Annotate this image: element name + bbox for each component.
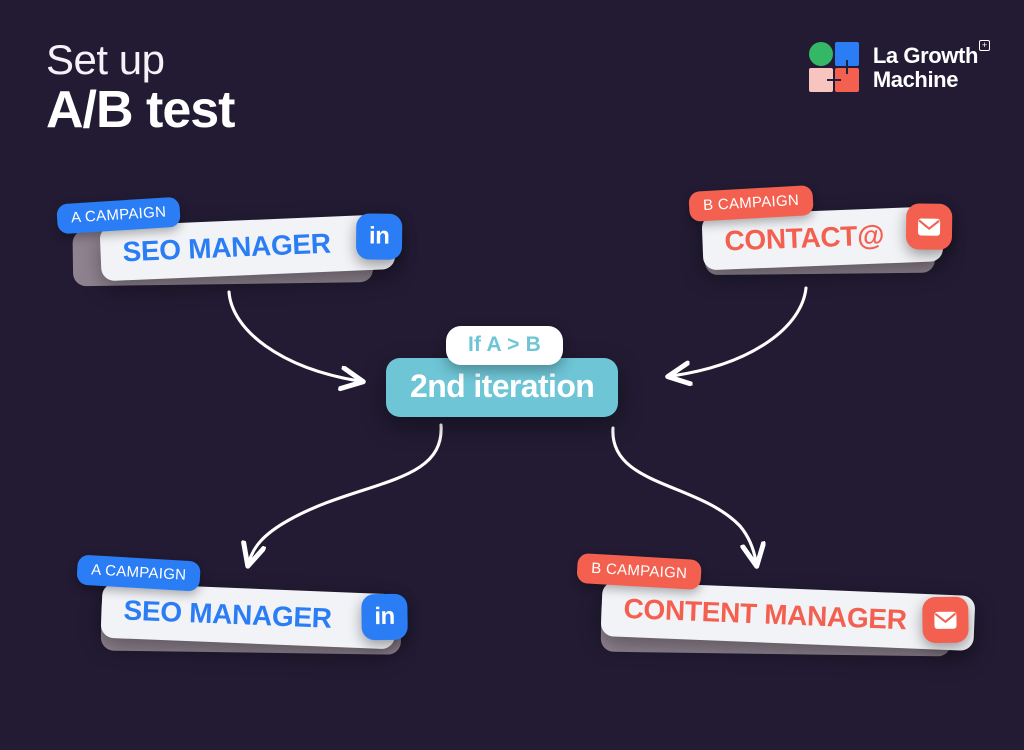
iteration-label: 2nd iteration [410,368,594,404]
condition-badge[interactable]: If A > B [446,326,563,365]
campaign-badge-a[interactable]: A CAMPAIGN [76,555,201,592]
campaign-card-label: SEO MANAGER [123,595,332,634]
brand-logo: La Growth Machine + [809,42,978,94]
envelope-glyph [933,610,957,629]
iteration-box[interactable]: 2nd iteration [386,358,618,417]
campaign-card-label: CONTACT@ [724,219,885,256]
node-bottom-right[interactable]: B CAMPAIGN CONTENT MANAGER [575,554,977,651]
campaign-card-label: SEO MANAGER [122,228,331,268]
email-icon[interactable] [922,597,969,644]
linkedin-glyph: in [369,224,390,248]
node-bottom-left[interactable]: A CAMPAIGN SEO MANAGER in [74,556,397,650]
connector-center-to-bottom-left [249,425,441,562]
connector-top-left-to-center [229,292,359,381]
campaign-badge-b[interactable]: B CAMPAIGN [576,553,702,590]
logo-mark-icon [809,42,861,94]
title-line-2: A/B test [46,84,234,136]
brand-wordmark: La Growth Machine + [873,44,978,92]
logo-tick-vertical-icon [846,60,848,74]
node-top-right[interactable]: B CAMPAIGN CONTACT@ [689,181,944,271]
campaign-card-label: CONTENT MANAGER [623,593,907,635]
envelope-glyph [917,217,941,236]
linkedin-icon[interactable]: in [361,594,408,641]
linkedin-glyph: in [374,605,395,629]
logo-circle-green-icon [809,42,833,66]
linkedin-icon[interactable]: in [356,213,402,259]
page-title: Set up A/B test [46,38,234,136]
brand-name-line-1: La Growth [873,44,978,68]
brand-name-line-2: Machine [873,68,978,92]
title-line-1: Set up [46,38,234,82]
connector-top-right-to-center [672,288,806,376]
logo-tick-horizontal-icon [827,79,841,81]
diagram-canvas: Set up A/B test La Growth Machine + [0,0,1024,750]
node-top-left[interactable]: A CAMPAIGN SEO MANAGER in [56,189,395,283]
registered-mark-icon: + [979,40,990,51]
connector-center-to-bottom-right [613,428,756,562]
email-icon[interactable] [906,203,953,250]
